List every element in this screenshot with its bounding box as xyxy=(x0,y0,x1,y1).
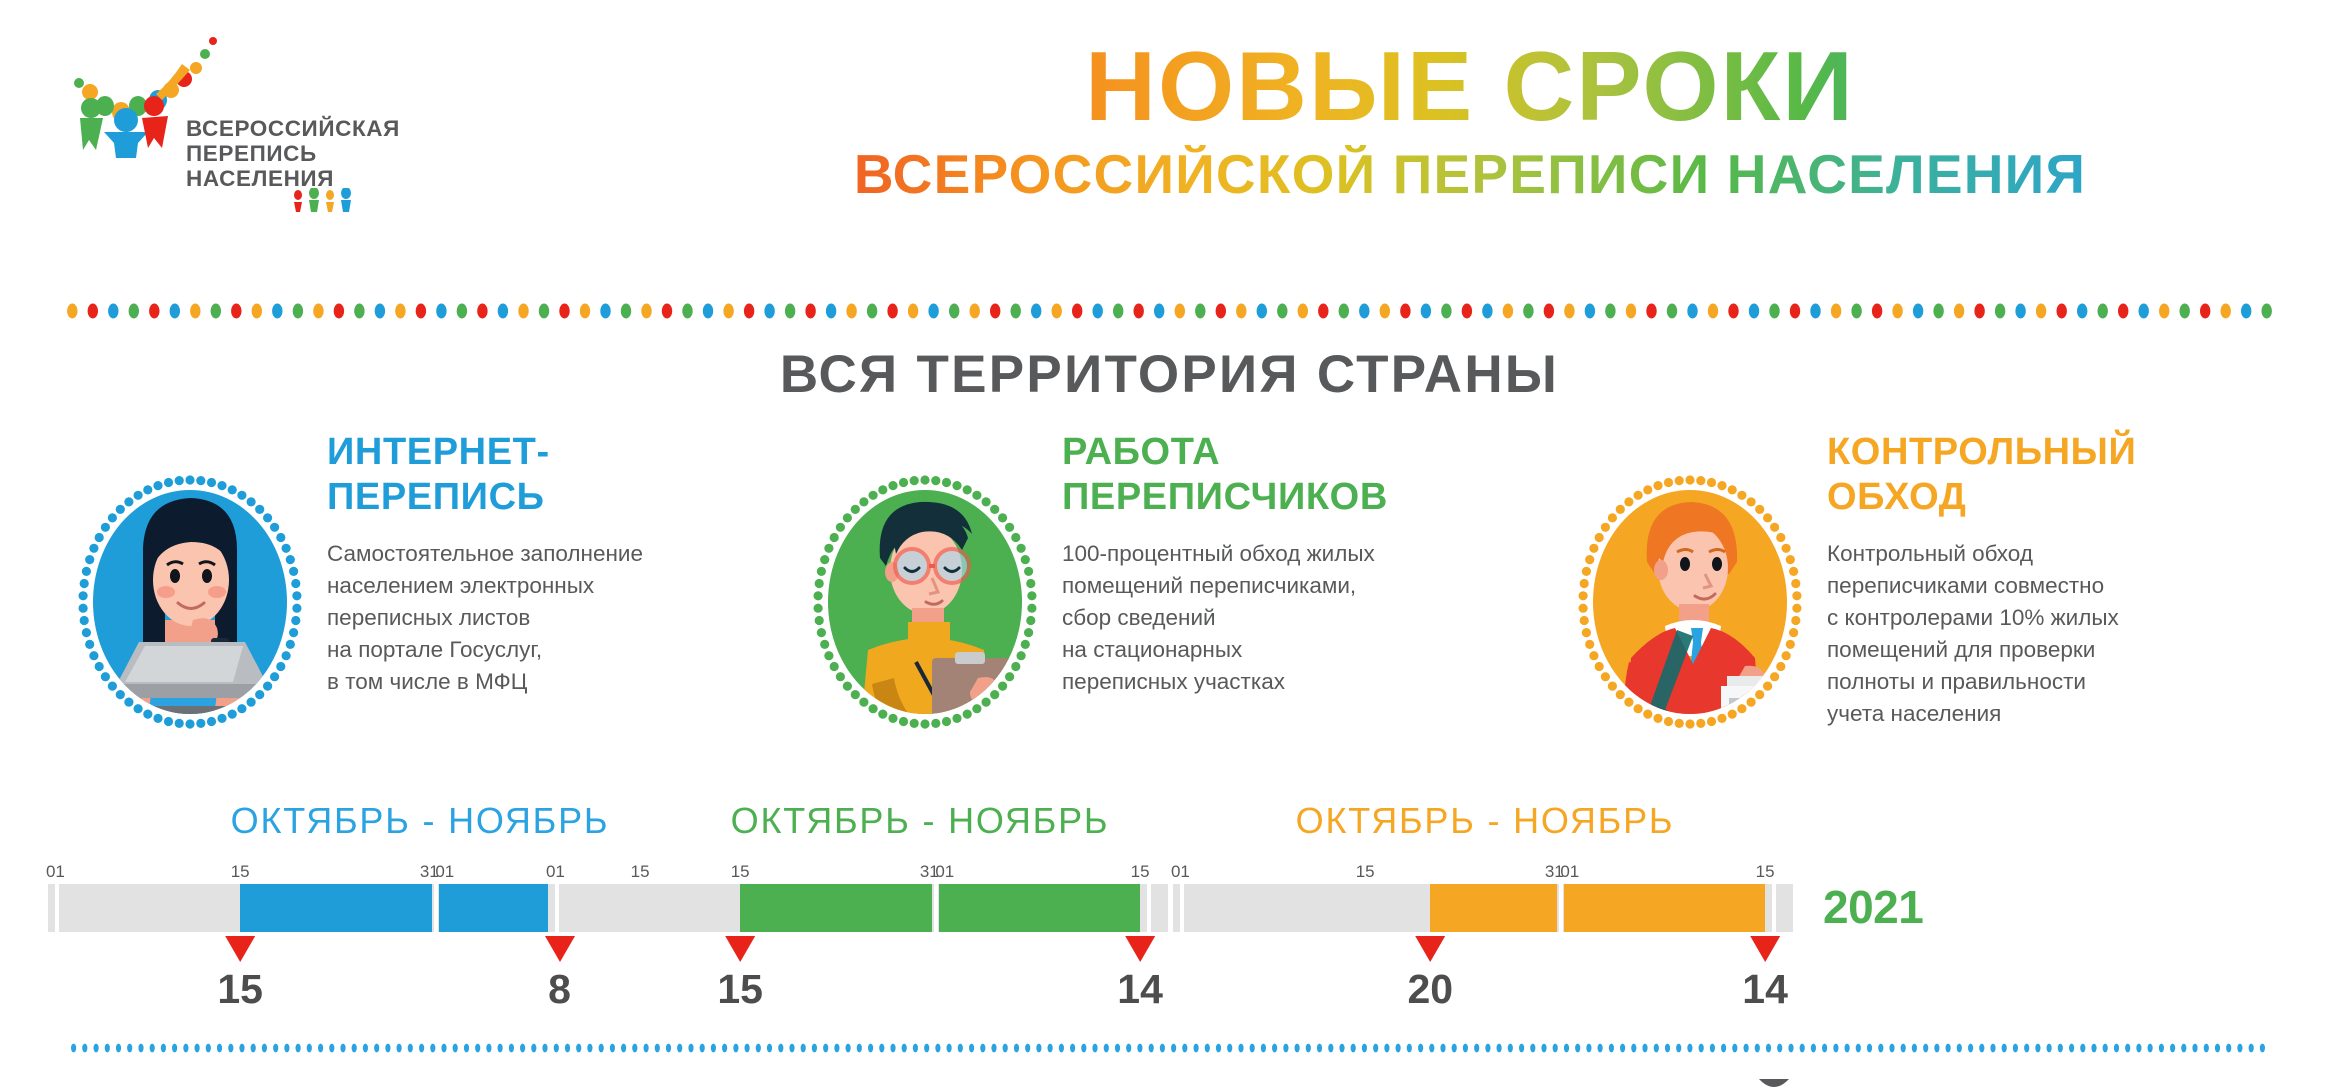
timeline-tick-label: 01 xyxy=(1171,862,1190,882)
timeline-tick-label: 01 xyxy=(46,862,65,882)
census-logo: ВСЕРОССИЙСКАЯ ПЕРЕПИСЬ НАСЕЛЕНИЯ xyxy=(58,28,438,203)
infographic-page: ВСЕРОССИЙСКАЯ ПЕРЕПИСЬ НАСЕЛЕНИЯ НОВЫЕ С… xyxy=(0,0,2339,1089)
column-body-control-round: Контрольный обход переписчиками совместн… xyxy=(1827,538,2297,730)
page-subtitle: ВСЕРОССИЙСКОЙ ПЕРЕПИСИ НАСЕЛЕНИЯ xyxy=(620,145,2320,203)
timeline-marker: 20 xyxy=(1407,936,1453,1013)
marker-day-label: 15 xyxy=(717,966,763,1013)
bottom-dotted-divider xyxy=(68,1043,2268,1053)
timeline-tick-label: 15 xyxy=(231,862,250,882)
marker-day-label: 14 xyxy=(1742,966,1788,1013)
section-title: ВСЯ ТЕРРИТОРИЯ СТРАНЫ xyxy=(0,344,2339,405)
page-title: НОВЫЕ СРОКИ xyxy=(640,36,2300,136)
timeline-bar-control-round: 0115310115 2014 xyxy=(1173,862,1793,982)
timeline-notch xyxy=(1559,884,1563,932)
timeline-marker: 15 xyxy=(217,936,263,1013)
avatar-control-round xyxy=(1565,470,1815,730)
timeline-control-round: ОКТЯБРЬ - НОЯБРЬ 0115310115 2014 2021 xyxy=(1045,800,1925,1070)
timeline-year-control-round: 2021 xyxy=(1823,880,1923,934)
timeline-marker: 15 xyxy=(717,936,763,1013)
timeline-notch xyxy=(434,884,438,932)
timeline-segment xyxy=(240,884,432,932)
timeline-notch xyxy=(1772,884,1776,932)
avatar-enumerator-work xyxy=(800,470,1050,730)
timeline-tick-label: 01 xyxy=(546,862,565,882)
timeline-segment xyxy=(740,884,932,932)
marker-day-label: 20 xyxy=(1407,966,1453,1013)
timeline-tick-label: 15 xyxy=(1756,862,1775,882)
timeline-tick-label: 01 xyxy=(935,862,954,882)
cropped-glyph-icon xyxy=(1757,1079,1791,1089)
woman-with-laptop-icon xyxy=(65,470,315,730)
man-with-clipboard-icon xyxy=(800,470,1050,730)
avatar-internet-census xyxy=(65,470,315,730)
column-heading-control-round: КОНТРОЛЬНЫЙ ОБХОД xyxy=(1827,430,2297,520)
column-body-enumerator-work: 100-процентный обход жилых помещений пер… xyxy=(1062,538,1532,698)
column-body-internet-census: Самостоятельное заполнение населением эл… xyxy=(327,538,797,698)
man-with-documents-icon xyxy=(1565,470,1815,730)
marker-triangle-icon xyxy=(225,936,255,962)
timeline-marker: 14 xyxy=(1742,936,1788,1013)
multicolor-dotted-divider xyxy=(62,303,2277,319)
marker-triangle-icon xyxy=(725,936,755,962)
logo-wordmark: ВСЕРОССИЙСКАЯ ПЕРЕПИСЬ НАСЕЛЕНИЯ xyxy=(186,116,400,191)
timeline-notch xyxy=(55,884,59,932)
column-heading-enumerator-work: РАБОТА ПЕРЕПИСЧИКОВ xyxy=(1062,430,1532,520)
timeline-notch xyxy=(934,884,938,932)
marker-triangle-icon xyxy=(1750,936,1780,962)
timeline-months-control-round: ОКТЯБРЬ - НОЯБРЬ xyxy=(1175,800,1795,842)
timeline-notch xyxy=(1180,884,1184,932)
timeline-tick-label: 15 xyxy=(1356,862,1375,882)
logo-year-2020 xyxy=(290,188,360,216)
timeline-segment xyxy=(1430,884,1557,932)
marker-triangle-icon xyxy=(1415,936,1445,962)
timeline-notch xyxy=(555,884,559,932)
timeline-tick-label: 01 xyxy=(435,862,454,882)
column-heading-internet-census: ИНТЕРНЕТ- ПЕРЕПИСЬ xyxy=(327,430,797,520)
timeline-tick-label: 01 xyxy=(1560,862,1579,882)
marker-day-label: 15 xyxy=(217,966,263,1013)
timeline-segment xyxy=(1564,884,1766,932)
timeline-ticks: 0115310115 xyxy=(1173,862,1793,882)
timeline-tick-label: 15 xyxy=(731,862,750,882)
timeline-track xyxy=(1173,884,1793,932)
